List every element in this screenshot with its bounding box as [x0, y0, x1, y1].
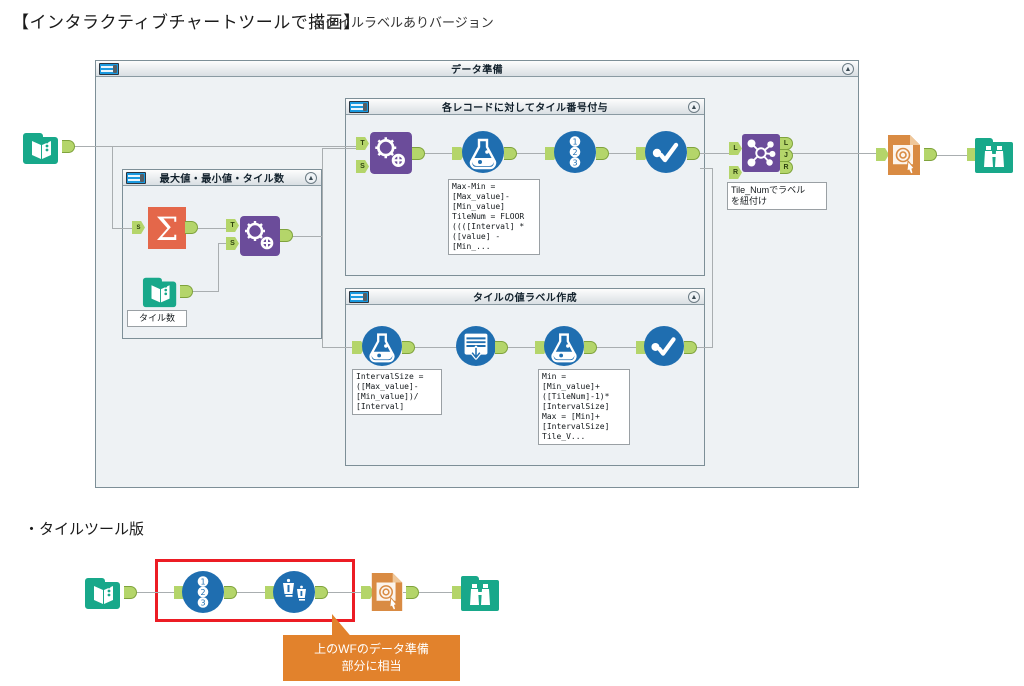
output-port[interactable] [185, 221, 198, 234]
wire [700, 168, 713, 169]
wire [322, 148, 357, 149]
container-title-label: タイルの値ラベル作成 [473, 289, 577, 304]
collapse-icon[interactable]: ▲ [688, 291, 700, 303]
svg-text:1: 1 [572, 138, 577, 147]
text-input-tool[interactable] [22, 127, 62, 167]
container-icon [99, 63, 119, 75]
container-icon [349, 291, 369, 303]
note-formula-intervalsize: IntervalSize = ([Max_value]- [Min_value]… [352, 369, 442, 415]
page-subtitle: ※タイルラベルありバージョン [312, 12, 494, 31]
browse-tool[interactable] [974, 133, 1014, 175]
svg-text:3: 3 [572, 159, 577, 168]
svg-text:Σ: Σ [156, 210, 179, 248]
output-port[interactable] [406, 586, 419, 599]
wire [322, 148, 323, 348]
container-title-bar: タイルの値ラベル作成 ▲ [346, 289, 704, 305]
collapse-icon[interactable]: ▲ [688, 101, 700, 113]
wire [712, 168, 713, 347]
output-port[interactable] [124, 586, 137, 599]
output-port[interactable] [224, 586, 237, 599]
record-id-tool[interactable]: 1 2 3 [554, 131, 596, 173]
append-fields-tool[interactable] [240, 216, 280, 256]
output-port-r[interactable]: R [780, 161, 793, 174]
output-port[interactable] [687, 147, 700, 160]
container-title-label: 各レコードに対してタイル番号付与 [442, 99, 608, 114]
wire [97, 146, 357, 147]
join-tool[interactable] [742, 134, 780, 172]
output-port[interactable] [684, 341, 697, 354]
output-port[interactable] [504, 147, 517, 160]
svg-text:2: 2 [572, 148, 577, 157]
formula-tool[interactable] [544, 326, 584, 366]
select-tool[interactable] [645, 131, 687, 173]
svg-text:1: 1 [200, 578, 205, 587]
formula-tool[interactable] [462, 131, 504, 173]
section-label-tile-tool: ・タイルツール版 [24, 518, 144, 539]
output-port[interactable] [402, 341, 415, 354]
generate-rows-tool[interactable] [456, 326, 496, 366]
wire [778, 153, 888, 154]
output-port[interactable] [62, 140, 75, 153]
output-port[interactable] [924, 148, 937, 161]
tile-tool[interactable] [273, 571, 315, 613]
container-icon [349, 101, 369, 113]
collapse-icon[interactable]: ▲ [842, 63, 854, 75]
append-fields-tool[interactable] [370, 132, 412, 174]
collapse-icon[interactable]: ▲ [305, 172, 317, 184]
output-port[interactable] [584, 341, 597, 354]
container-title-label: 最大値・最小値・タイル数 [160, 170, 285, 185]
record-id-tool[interactable]: 1 2 3 [182, 571, 224, 613]
summarize-tool[interactable]: Σ [147, 206, 187, 250]
output-port[interactable] [412, 147, 425, 160]
interactive-chart-tool[interactable] [884, 133, 924, 177]
formula-tool[interactable] [362, 326, 402, 366]
container-title-bar: 最大値・最小値・タイル数 ▲ [123, 170, 321, 186]
callout-box: 上のWFのデータ準備 部分に相当 [283, 635, 460, 681]
wire [218, 243, 219, 292]
output-port[interactable] [596, 147, 609, 160]
container-title-bar: データ準備 ▲ [96, 61, 858, 77]
interactive-chart-tool[interactable] [368, 571, 406, 613]
text-input-tool[interactable] [142, 272, 180, 310]
note-formula-tilenum: Max-Min = [Max_value]- [Min_value] TileN… [448, 179, 540, 255]
output-port[interactable] [280, 229, 293, 242]
browse-tool[interactable] [460, 571, 500, 613]
container-title-bar: 各レコードに対してタイル番号付与 ▲ [346, 99, 704, 115]
wire [322, 347, 357, 348]
select-tool[interactable] [644, 326, 684, 366]
page-title: 【インタラクティブチャートツールで描画】 [12, 8, 361, 33]
note-formula-minmax-tile: Min = [Min_value]+ ([TileNum]-1)* [Inter… [538, 369, 630, 445]
container-title-label: データ準備 [451, 61, 503, 76]
svg-text:3: 3 [200, 599, 205, 608]
output-port[interactable] [315, 586, 328, 599]
svg-text:2: 2 [200, 588, 205, 597]
note-tile-count: タイル数 [127, 310, 187, 327]
container-icon [126, 172, 146, 184]
output-port[interactable] [495, 341, 508, 354]
text-input-tool[interactable] [84, 572, 124, 612]
wire [112, 146, 113, 228]
output-port[interactable] [180, 285, 193, 298]
note-join: Tile_Numでラベル を紐付け [727, 182, 827, 210]
